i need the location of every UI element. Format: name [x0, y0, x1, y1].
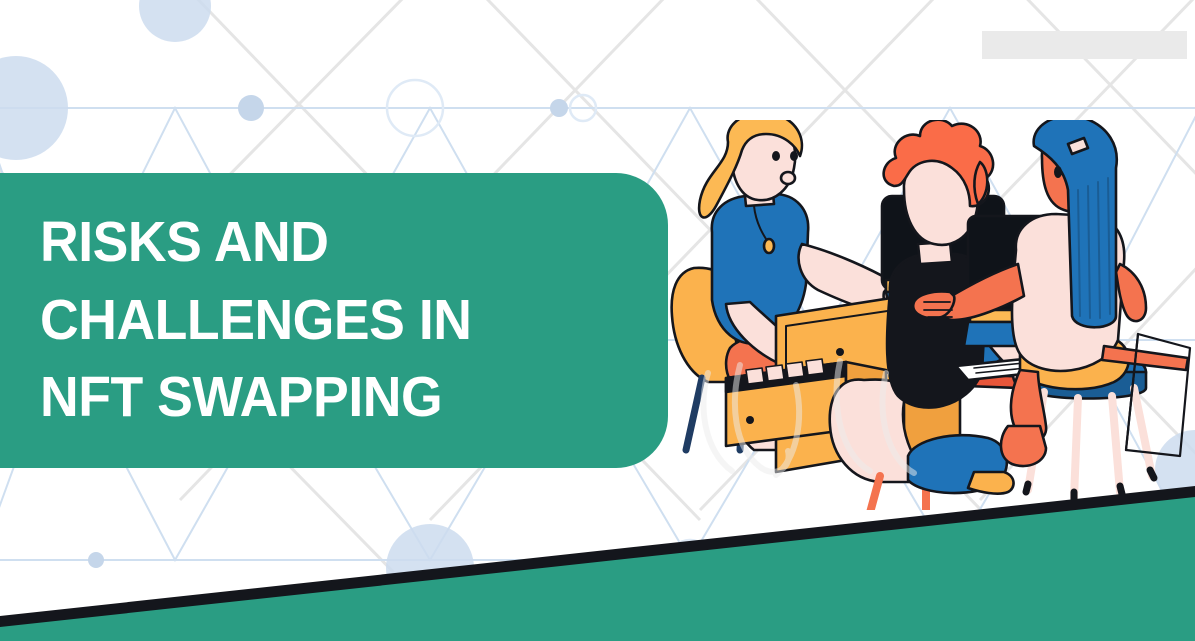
page-title: RISKS AND CHALLENGES IN NFT SWAPPING [40, 204, 471, 437]
title-card: RISKS AND CHALLENGES IN NFT SWAPPING [0, 173, 668, 468]
banner: RISKS AND CHALLENGES IN NFT SWAPPING [0, 0, 1195, 641]
